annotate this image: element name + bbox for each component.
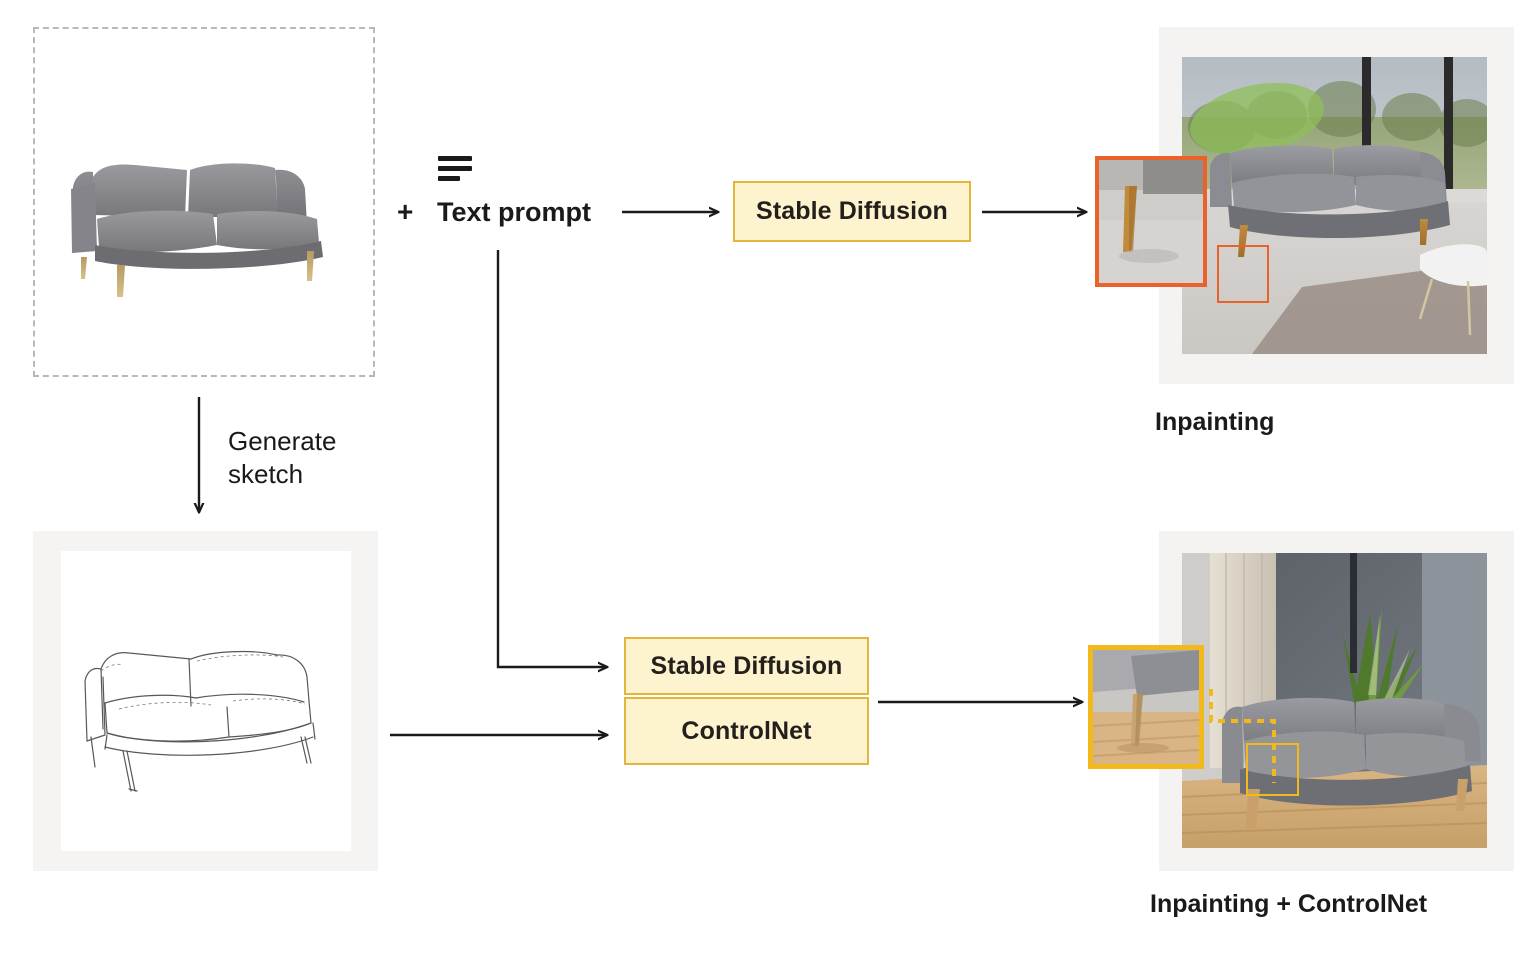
controlnet-zoom-inset xyxy=(1088,645,1204,769)
controlnet-mask-dashed-path xyxy=(1159,531,1514,871)
controlnet-leg-highlight-box xyxy=(1246,743,1299,796)
source-image-box xyxy=(33,27,375,377)
result-panel-inpainting xyxy=(1159,27,1514,384)
source-sofa-illustration xyxy=(35,29,377,379)
diagram-canvas: + Text prompt Stable Diffusion Stable Di… xyxy=(0,0,1536,964)
node-controlnet[interactable]: ControlNet xyxy=(624,697,869,765)
node-stable-diffusion-top[interactable]: Stable Diffusion xyxy=(733,181,971,242)
caption-inpainting-controlnet: Inpainting + ControlNet xyxy=(1150,890,1427,919)
generate-sketch-label: Generate sketch xyxy=(228,425,336,492)
inpainting-result-image xyxy=(1182,57,1487,354)
inpainting-zoom-inset-image xyxy=(1099,160,1203,283)
text-prompt-label: Text prompt xyxy=(437,197,591,228)
sketch-panel xyxy=(33,531,378,871)
text-lines-icon xyxy=(438,156,474,186)
generate-sketch-line-1: Generate xyxy=(228,425,336,458)
inpainting-zoom-inset xyxy=(1095,156,1207,287)
generate-sketch-line-2: sketch xyxy=(228,458,336,491)
controlnet-zoom-inset-image xyxy=(1093,650,1199,764)
arrow-prompt-to-sd-bottom xyxy=(498,250,607,667)
inpainting-scene xyxy=(1182,57,1487,354)
inpainting-leg-highlight-box xyxy=(1217,245,1269,303)
sketch-image xyxy=(61,551,351,851)
caption-inpainting: Inpainting xyxy=(1155,408,1274,437)
node-stable-diffusion-bottom[interactable]: Stable Diffusion xyxy=(624,637,869,695)
result-panel-inpainting-controlnet xyxy=(1159,531,1514,871)
plus-sign: + xyxy=(397,196,413,228)
sketch-sofa-lineart xyxy=(61,551,351,851)
